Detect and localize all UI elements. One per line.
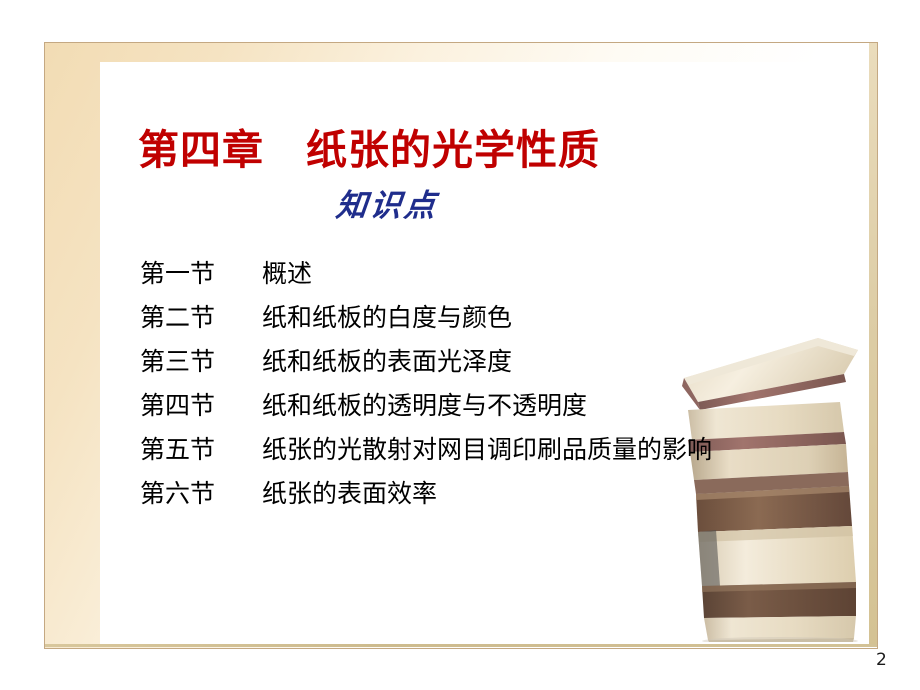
- slide: 第四章 纸张的光学性质 知识点: [0, 0, 920, 690]
- list-item: 第五节 纸张的光散射对网目调印刷品质量的影响: [140, 428, 840, 472]
- section-number: 第三节: [140, 340, 262, 384]
- list-item: 第三节 纸和纸板的表面光泽度: [140, 340, 840, 384]
- section-number: 第四节: [140, 384, 262, 428]
- page-number: 2: [876, 650, 887, 670]
- section-label: 纸和纸板的白度与颜色: [262, 296, 512, 340]
- section-list: 第一节 概述 第二节 纸和纸板的白度与颜色 第三节 纸和纸板的表面光泽度 第四节…: [140, 252, 840, 516]
- slide-content: 第四章 纸张的光学性质 知识点: [0, 0, 920, 690]
- section-label: 纸和纸板的透明度与不透明度: [262, 384, 587, 428]
- section-number: 第六节: [140, 472, 262, 516]
- section-label: 纸和纸板的表面光泽度: [262, 340, 512, 384]
- page-subtitle: 知识点: [334, 186, 440, 226]
- section-number: 第五节: [140, 428, 262, 472]
- section-label: 纸张的表面效率: [262, 472, 437, 516]
- section-label: 纸张的光散射对网目调印刷品质量的影响: [262, 428, 712, 472]
- list-item: 第一节 概述: [140, 252, 840, 296]
- list-item: 第二节 纸和纸板的白度与颜色: [140, 296, 840, 340]
- list-item: 第六节 纸张的表面效率: [140, 472, 840, 516]
- section-label: 概述: [262, 252, 312, 296]
- page-title: 第四章 纸张的光学性质: [138, 124, 600, 176]
- section-number: 第一节: [140, 252, 262, 296]
- section-number: 第二节: [140, 296, 262, 340]
- list-item: 第四节 纸和纸板的透明度与不透明度: [140, 384, 840, 428]
